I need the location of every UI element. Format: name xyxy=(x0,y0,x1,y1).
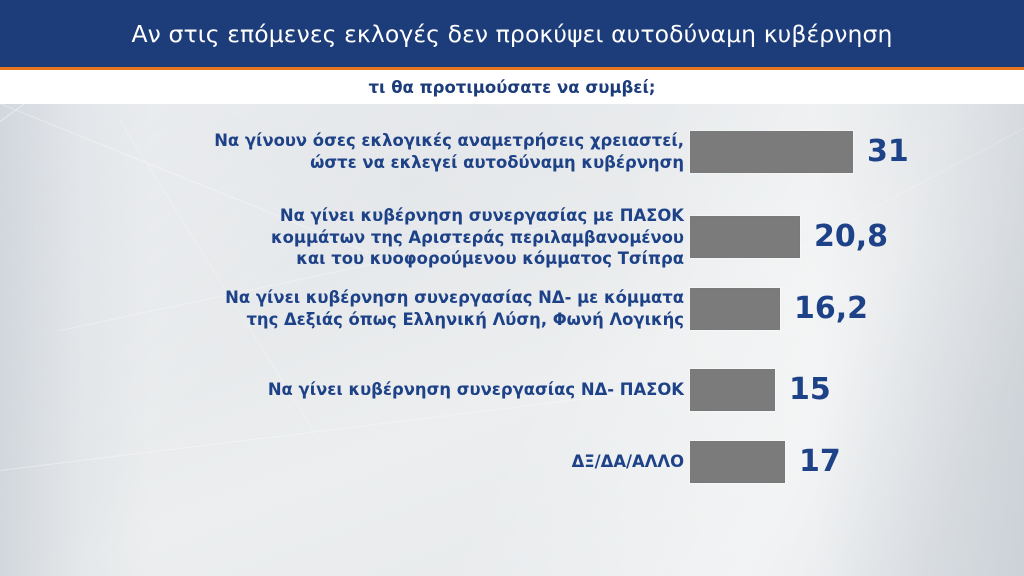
bar-label: Να γίνουν όσες εκλογικές αναμετρήσεις χρ… xyxy=(0,130,690,173)
header-band: Αν στις επόμενες εκλογές δεν προκύψει αυ… xyxy=(0,0,1024,67)
bar-row: Να γίνουν όσες εκλογικές αναμετρήσεις χρ… xyxy=(0,130,1024,173)
header-inner: Αν στις επόμενες εκλογές δεν προκύψει αυ… xyxy=(0,0,1024,67)
bar xyxy=(690,441,785,483)
footer: OPEN BEYOND MRB xyxy=(0,516,1024,576)
bar xyxy=(690,216,800,258)
bar-label: Να γίνει κυβέρνηση συνεργασίας ΝΔ- ΠΑΣΟΚ xyxy=(0,379,690,401)
poll-graphic-stage: Αν στις επόμενες εκλογές δεν προκύψει αυ… xyxy=(0,0,1024,576)
bar-value: 31 xyxy=(867,137,909,167)
bar-chart: Να γίνουν όσες εκλογικές αναμετρήσεις χρ… xyxy=(0,104,1024,504)
bar-label: ΔΞ/ΔΑ/ΑΛΛΟ xyxy=(0,451,690,473)
bar-and-value: 15 xyxy=(690,369,831,411)
bar-label: Να γίνει κυβέρνηση συνεργασίας ΝΔ- με κό… xyxy=(0,287,690,330)
bar-row: ΔΞ/ΔΑ/ΑΛΛΟ17 xyxy=(0,441,1024,483)
bar-and-value: 31 xyxy=(690,131,909,173)
bar-value: 17 xyxy=(799,447,841,477)
bar-row: Να γίνει κυβέρνηση συνεργασίας με ΠΑΣΟΚ … xyxy=(0,205,1024,270)
page-title: Αν στις επόμενες εκλογές δεν προκύψει αυ… xyxy=(131,20,892,48)
bar-row: Να γίνει κυβέρνηση συνεργασίας ΝΔ- με κό… xyxy=(0,287,1024,330)
bar-and-value: 16,2 xyxy=(690,288,868,330)
subheader-band: τι θα προτιμούσατε να συμβεί; xyxy=(0,70,1024,104)
bar xyxy=(690,288,780,330)
bar-value: 15 xyxy=(789,375,831,405)
bar-and-value: 20,8 xyxy=(690,216,888,258)
bar-and-value: 17 xyxy=(690,441,841,483)
bar xyxy=(690,131,853,173)
bar-value: 20,8 xyxy=(814,222,888,252)
bar-value: 16,2 xyxy=(794,294,868,324)
page-subtitle: τι θα προτιμούσατε να συμβεί; xyxy=(368,78,655,97)
bar-row: Να γίνει κυβέρνηση συνεργασίας ΝΔ- ΠΑΣΟΚ… xyxy=(0,369,1024,411)
bar-label: Να γίνει κυβέρνηση συνεργασίας με ΠΑΣΟΚ … xyxy=(0,205,690,270)
bar xyxy=(690,369,775,411)
